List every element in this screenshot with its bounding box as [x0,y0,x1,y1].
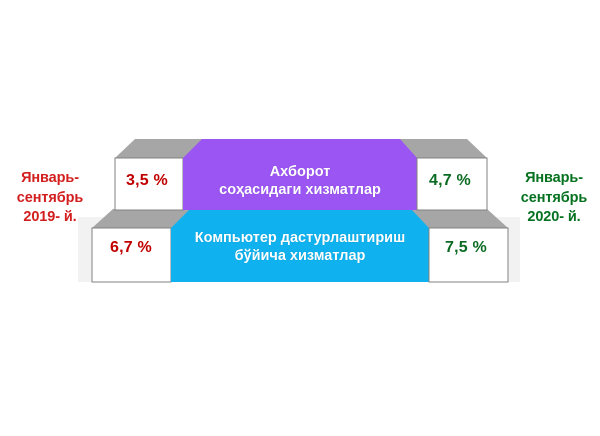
bottom-tier-label: Компьютер дастурлаштириш бўйича хизматла… [166,230,434,265]
value-label-bottom-left: 6,7 % [99,239,163,257]
value-label-bottom-right: 7,5 % [434,239,498,257]
pyramid-comparison-chart: 3,5 % 4,7 % 6,7 % 7,5 % Ахборот соҳасида… [0,0,600,436]
legend-caption-2019: Январь- сентябрь 2019- й. [2,169,98,228]
top-tier-center-top-face [183,139,417,158]
value-label-top-right: 4,7 % [418,172,482,190]
bottom-tier-center-top-face [171,209,429,228]
legend-caption-2020: Январь- сентябрь 2020- й. [506,169,600,228]
top-tier-label: Ахборот соҳасидаги хизматлар [182,164,418,199]
value-label-top-left: 3,5 % [116,172,178,190]
